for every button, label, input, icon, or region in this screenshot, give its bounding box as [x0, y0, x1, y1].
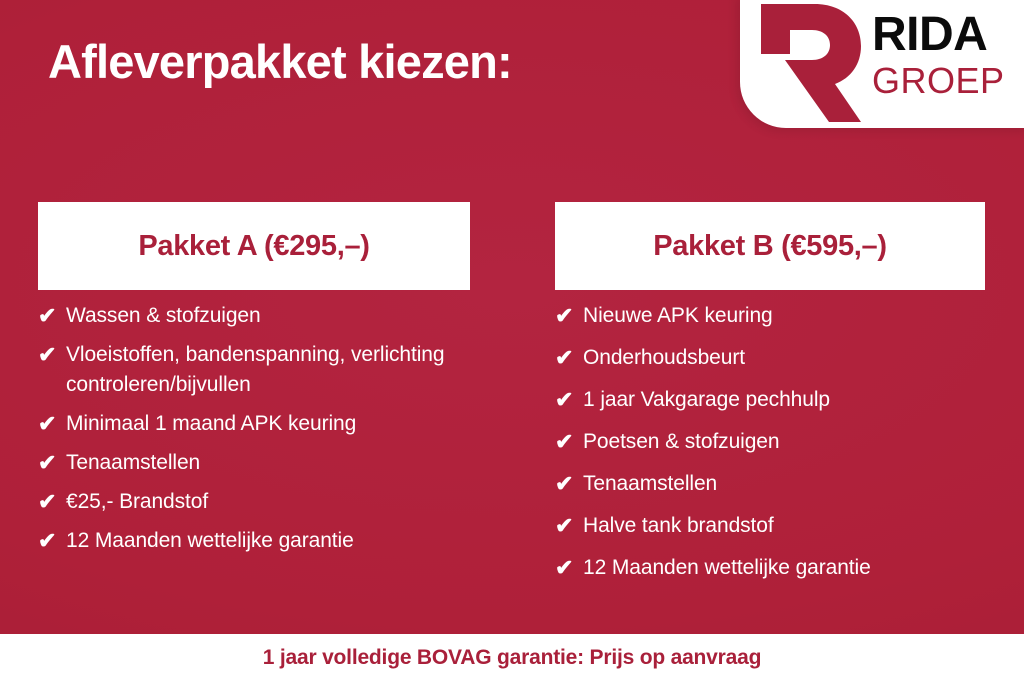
list-item: ✔ 12 Maanden wettelijke garantie [555, 553, 985, 583]
rida-r-mark-icon [757, 2, 863, 124]
check-icon: ✔ [38, 448, 66, 478]
package-card-b[interactable]: Pakket B (€595,–) ✔ Nieuwe APK keuring ✔… [555, 202, 985, 595]
list-item-label: Halve tank brandstof [583, 511, 774, 541]
check-icon: ✔ [38, 409, 66, 439]
list-item-label: 1 jaar Vakgarage pechhulp [583, 385, 830, 415]
list-item: ✔ 1 jaar Vakgarage pechhulp [555, 385, 985, 415]
list-item: ✔ 12 Maanden wettelijke garantie [38, 526, 470, 556]
list-item: ✔ Halve tank brandstof [555, 511, 985, 541]
footer-guarantee-text: 1 jaar volledige BOVAG garantie: Prijs o… [263, 646, 761, 670]
list-item-label: 12 Maanden wettelijke garantie [66, 526, 354, 556]
list-item-label: Tenaamstellen [583, 469, 717, 499]
package-b-feature-list: ✔ Nieuwe APK keuring ✔ Onderhoudsbeurt ✔… [555, 301, 985, 583]
logo-secondary-text: GROEP [872, 63, 1022, 99]
list-item-label: Poetsen & stofzuigen [583, 427, 779, 457]
check-icon: ✔ [555, 385, 583, 415]
list-item-label: Onderhoudsbeurt [583, 343, 745, 373]
logo-panel: RIDA GROEP [740, 0, 1024, 128]
list-item: ✔ €25,- Brandstof [38, 487, 470, 517]
list-item: ✔ Poetsen & stofzuigen [555, 427, 985, 457]
list-item: ✔ Minimaal 1 maand APK keuring [38, 409, 470, 439]
list-item: ✔ Nieuwe APK keuring [555, 301, 985, 331]
list-item: ✔ Tenaamstellen [38, 448, 470, 478]
package-card-a[interactable]: Pakket A (€295,–) ✔ Wassen & stofzuigen … [38, 202, 470, 565]
list-item-label: 12 Maanden wettelijke garantie [583, 553, 871, 583]
package-a-title: Pakket A (€295,–) [138, 230, 369, 263]
package-b-header: Pakket B (€595,–) [555, 202, 985, 290]
check-icon: ✔ [555, 301, 583, 331]
package-b-title: Pakket B (€595,–) [653, 230, 887, 263]
list-item: ✔ Wassen & stofzuigen [38, 301, 470, 331]
list-item-label: Minimaal 1 maand APK keuring [66, 409, 356, 439]
check-icon: ✔ [555, 469, 583, 499]
page-title: Afleverpakket kiezen: [48, 34, 512, 89]
check-icon: ✔ [38, 301, 66, 331]
package-a-feature-list: ✔ Wassen & stofzuigen ✔ Vloeistoffen, ba… [38, 301, 470, 556]
package-a-header: Pakket A (€295,–) [38, 202, 470, 290]
check-icon: ✔ [555, 343, 583, 373]
check-icon: ✔ [38, 526, 66, 556]
footer-bar: 1 jaar volledige BOVAG garantie: Prijs o… [0, 634, 1024, 682]
check-icon: ✔ [555, 427, 583, 457]
list-item-label: Nieuwe APK keuring [583, 301, 773, 331]
list-item-label: €25,- Brandstof [66, 487, 208, 517]
list-item-label: Tenaamstellen [66, 448, 200, 478]
check-icon: ✔ [555, 553, 583, 583]
list-item: ✔ Vloeistoffen, bandenspanning, verlicht… [38, 340, 470, 400]
list-item-label: Wassen & stofzuigen [66, 301, 261, 331]
logo-primary-text: RIDA [872, 11, 1022, 59]
check-icon: ✔ [38, 487, 66, 517]
poster-root: Afleverpakket kiezen: RIDA GROEP Pakket … [0, 0, 1024, 682]
list-item: ✔ Onderhoudsbeurt [555, 343, 985, 373]
list-item-label: Vloeistoffen, bandenspanning, verlichtin… [66, 340, 470, 400]
check-icon: ✔ [38, 340, 66, 370]
check-icon: ✔ [555, 511, 583, 541]
list-item: ✔ Tenaamstellen [555, 469, 985, 499]
logo-wordmark: RIDA GROEP [872, 11, 1022, 99]
